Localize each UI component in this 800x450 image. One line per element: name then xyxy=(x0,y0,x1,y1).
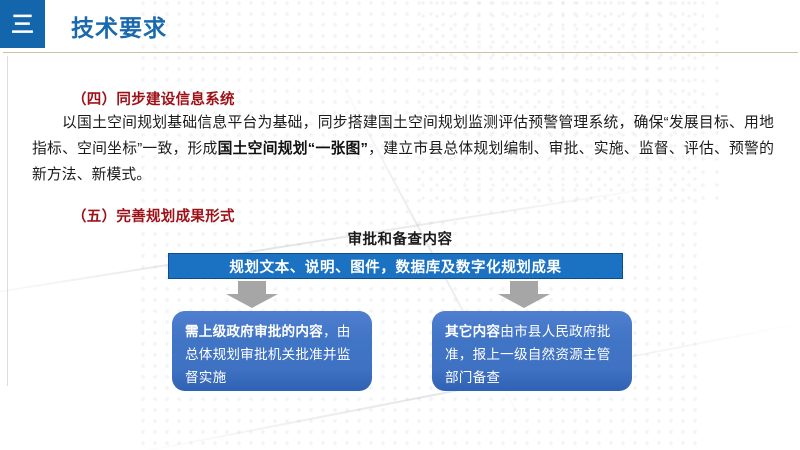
down-arrow-icon-right xyxy=(496,281,552,309)
diagram-banner: 规划文本、说明、图件，数据库及数字化规划成果 xyxy=(168,253,623,279)
page-title: 技术要求 xyxy=(71,9,167,43)
diagram-title: 审批和备查内容 xyxy=(0,228,800,249)
diagram-node-other-content: 其它内容由市县人民政府批准，报上一级自然资源主管部门备查 xyxy=(432,311,632,391)
node-right-emphasis: 其它内容 xyxy=(445,324,500,339)
down-arrow-icon-left xyxy=(224,281,280,309)
section-number-label: 三 xyxy=(11,13,34,36)
slide-content: （四）同步建设信息系统 以国土空间规划基础信息平台为基础，同步搭建国土空间规划监… xyxy=(0,53,800,450)
section-four-paragraph: 以国土空间规划基础信息平台为基础，同步搭建国土空间规划监测评估预警管理系统，确保… xyxy=(32,110,774,188)
diagram-banner-label: 规划文本、说明、图件，数据库及数字化规划成果 xyxy=(229,256,561,277)
approval-content-diagram: 审批和备查内容 规划文本、说明、图件，数据库及数字化规划成果 需上级政府审批的内… xyxy=(0,228,800,450)
section-number-badge: 三 xyxy=(0,0,45,48)
slide-header: 三 技术要求 xyxy=(0,0,800,53)
paragraph-run-2-bold: 国土空间规划“一张图” xyxy=(218,141,368,157)
presentation-slide: 三 技术要求 （四）同步建设信息系统 以国土空间规划基础信息平台为基础，同步搭建… xyxy=(0,0,800,450)
diagram-node-upper-approval: 需上级政府审批的内容，由总体规划审批机关批准并监督实施 xyxy=(172,311,372,391)
node-left-emphasis: 需上级政府审批的内容 xyxy=(185,324,323,339)
section-heading-five: （五）完善规划成果形式 xyxy=(72,205,235,226)
section-heading-four: （四）同步建设信息系统 xyxy=(72,88,235,109)
